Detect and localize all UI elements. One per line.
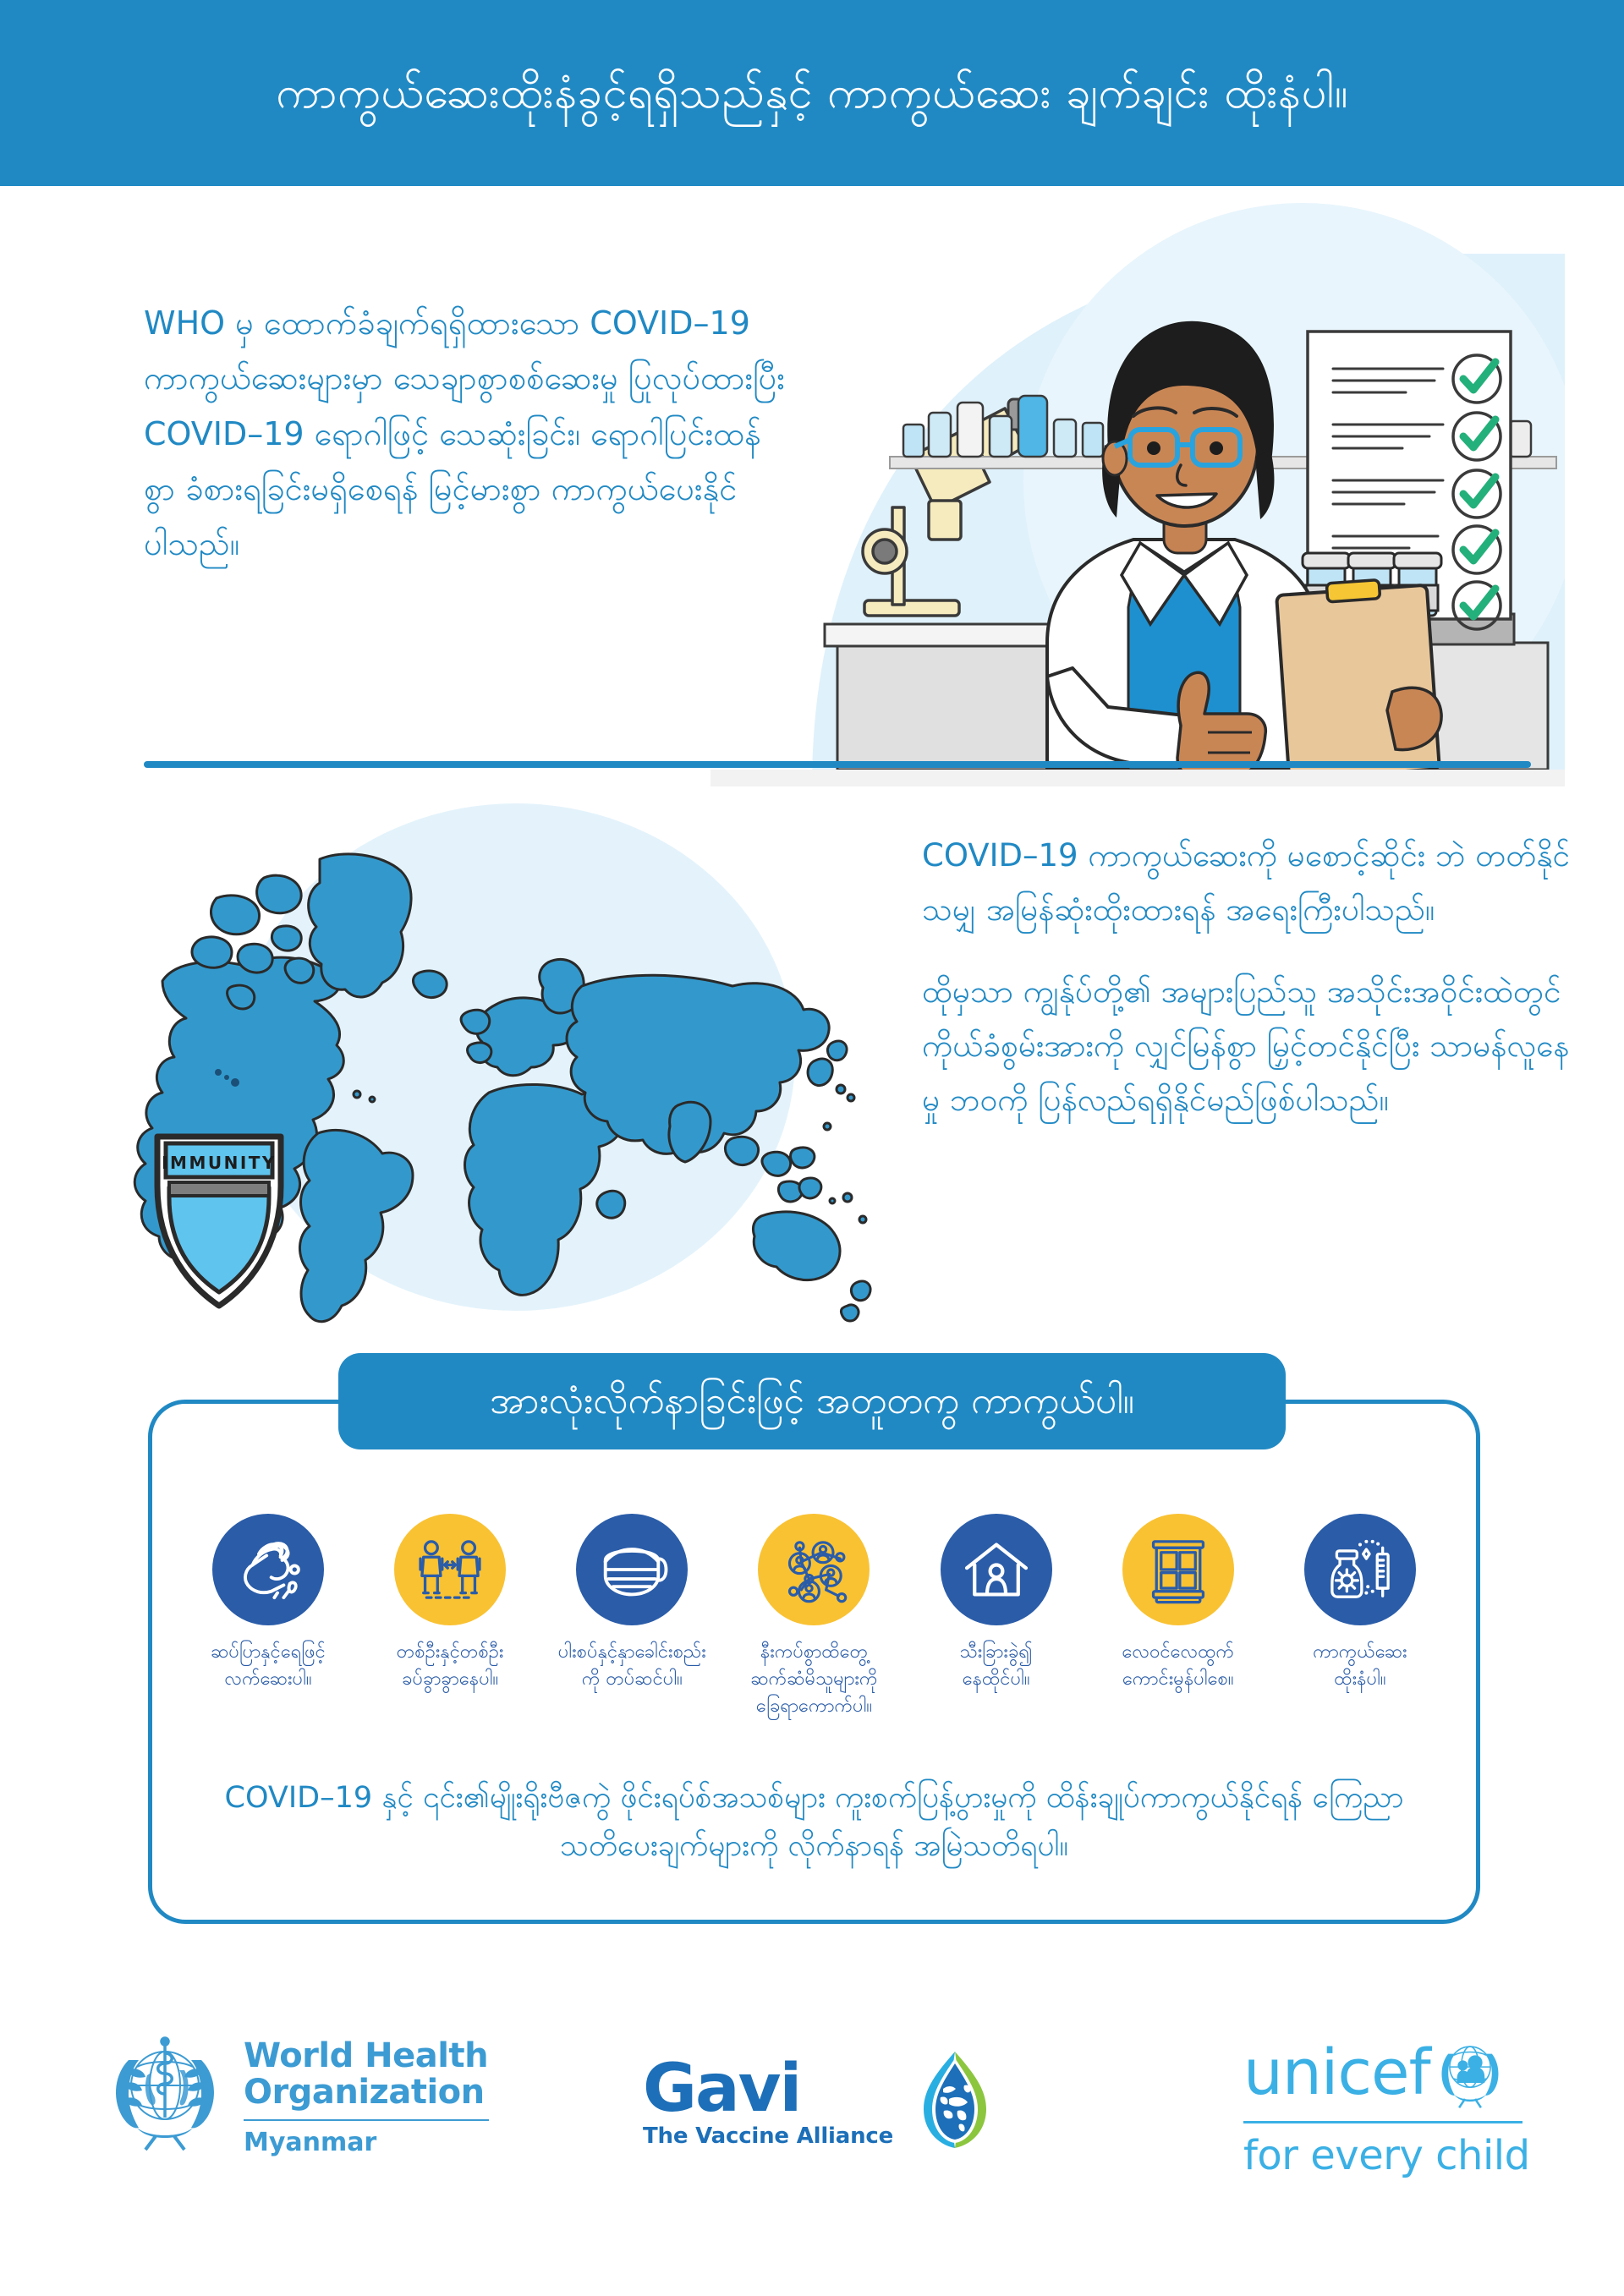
- measure-label: တစ်ဦးနှင့်တစ်ဦးခပ်ခွာခွာနေပါ။: [397, 1639, 504, 1693]
- gavi-tagline: The Vaccine Alliance: [643, 2123, 893, 2149]
- ventilation-icon: [1122, 1514, 1234, 1625]
- measure-label: နီးကပ်စွာထိတွေ့ဆက်ဆံမိသူများကိုခြေရာကောက…: [750, 1639, 877, 1720]
- measure-label: ပါးစပ်နှင့်နှာခေါင်းစည်းကို တပ်ဆင်ပါ။: [558, 1639, 706, 1693]
- map-paragraph-1: COVID–19 ကာကွယ်ဆေးကို မစောင့်ဆိုင်း ဘဲ တ…: [922, 829, 1582, 936]
- lab-scientist-illustration: [710, 203, 1565, 786]
- preventive-measures-row: ဆပ်ပြာနှင့်ရေဖြင့်လက်ဆေးပါ။: [148, 1514, 1480, 1720]
- intro-section: WHO မှ ထောက်ခံချက်ရရှိထားသော COVID–19 ကာ…: [0, 186, 1624, 795]
- who-emblem-icon: [101, 2030, 228, 2156]
- unicef-divider: [1243, 2121, 1522, 2123]
- measure-label: လေဝင်လေထွက်ကောင်းမွန်ပါစေ။: [1122, 1639, 1235, 1693]
- measure-label: ကာကွယ်ဆေးထိုးနံပါ။: [1313, 1639, 1407, 1693]
- measure-item-ventilation[interactable]: လေဝင်လေထွက်ကောင်းမွန်ပါစေ။: [1094, 1514, 1263, 1720]
- measure-label: ဆပ်ပြာနှင့်ရေဖြင့်လက်ဆေးပါ။: [211, 1639, 326, 1693]
- who-name-line1: World Health: [244, 2038, 489, 2074]
- immunity-shield: IMMUNITY: [157, 1137, 281, 1306]
- measure-item-contact-tracing[interactable]: နီးကပ်စွာထိတွေ့ဆက်ဆံမိသူများကိုခြေရာကောက…: [729, 1514, 898, 1720]
- map-text-block: COVID–19 ကာကွယ်ဆေးကို မစောင့်ဆိုင်း ဘဲ တ…: [922, 829, 1582, 1126]
- face-mask-icon: [576, 1514, 688, 1625]
- measures-banner-title: အားလုံးလိုက်နာခြင်းဖြင့် အတူတကွ ကာကွယ်ပါ…: [490, 1381, 1134, 1422]
- gavi-droplet-globe-icon: [900, 2048, 1010, 2158]
- world-map: IMMUNITY: [118, 803, 880, 1328]
- page-title: ကာကွယ်ဆေးထိုးနံခွင့်ရရှိသည်နှင့် ကာကွယ်ဆ…: [225, 66, 1399, 121]
- unicef-emblem-icon: [1434, 2036, 1506, 2109]
- measure-item-handwash[interactable]: ဆပ်ပြာနှင့်ရေဖြင့်လက်ဆေးပါ။: [184, 1514, 353, 1720]
- stay-home-icon: [941, 1514, 1052, 1625]
- who-country: Myanmar: [244, 2128, 489, 2157]
- gavi-logo: Gavi The Vaccine Alliance: [643, 2048, 1010, 2158]
- map-section: IMMUNITY COVID–19 ကာကွယ်ဆေးကို မစောင့်ဆိ…: [0, 795, 1624, 1336]
- measure-item-distancing[interactable]: တစ်ဦးနှင့်တစ်ဦးခပ်ခွာခွာနေပါ။: [365, 1514, 535, 1720]
- who-name-line2: Organization: [244, 2074, 489, 2111]
- shield-label: IMMUNITY: [162, 1153, 277, 1173]
- social-distance-icon: [394, 1514, 506, 1625]
- gavi-wordmark: Gavi: [643, 2058, 800, 2120]
- measures-footer-text: COVID–19 နှင့် ၎င်း၏မျိုးရိုးဗီဇကွဲ ဖိုင…: [190, 1774, 1438, 1870]
- measures-banner: အားလုံးလိုက်နာခြင်းဖြင့် အတူတကွ ကာကွယ်ပါ…: [338, 1353, 1286, 1449]
- unicef-logo: unicef: [1243, 2036, 1530, 2179]
- handwash-icon: [212, 1514, 324, 1625]
- section-divider: [144, 761, 1531, 768]
- measure-item-mask[interactable]: ပါးစပ်နှင့်နှာခေါင်းစည်းကို တပ်ဆင်ပါ။: [547, 1514, 716, 1720]
- intro-paragraph: WHO မှ ထောက်ခံချက်ရရှိထားသော COVID–19 ကာ…: [144, 296, 787, 573]
- measure-item-vaccine[interactable]: ကာကွယ်ဆေးထိုးနံပါ။: [1276, 1514, 1445, 1720]
- contact-tracing-icon: [758, 1514, 870, 1625]
- who-divider: [244, 2119, 489, 2121]
- footer-logos: World Health Organization Myanmar Gavi T…: [0, 2004, 1624, 2266]
- map-paragraph-2: ထိုမှသာ ကျွန်ုပ်တို့၏ အများပြည်သူ အသိုင်…: [922, 965, 1582, 1126]
- who-logo: World Health Organization Myanmar: [101, 2030, 489, 2157]
- unicef-wordmark: unicef: [1243, 2041, 1430, 2104]
- measure-label: သီးခြားခွဲ၍နေထိုင်ပါ။: [959, 1639, 1032, 1693]
- unicef-tagline: for every child: [1243, 2132, 1530, 2179]
- vaccine-icon: [1304, 1514, 1416, 1625]
- header-banner: ကာကွယ်ဆေးထိုးနံခွင့်ရရှိသည်နှင့် ကာကွယ်ဆ…: [0, 0, 1624, 186]
- measure-item-stay-home[interactable]: သီးခြားခွဲ၍နေထိုင်ပါ။: [912, 1514, 1081, 1720]
